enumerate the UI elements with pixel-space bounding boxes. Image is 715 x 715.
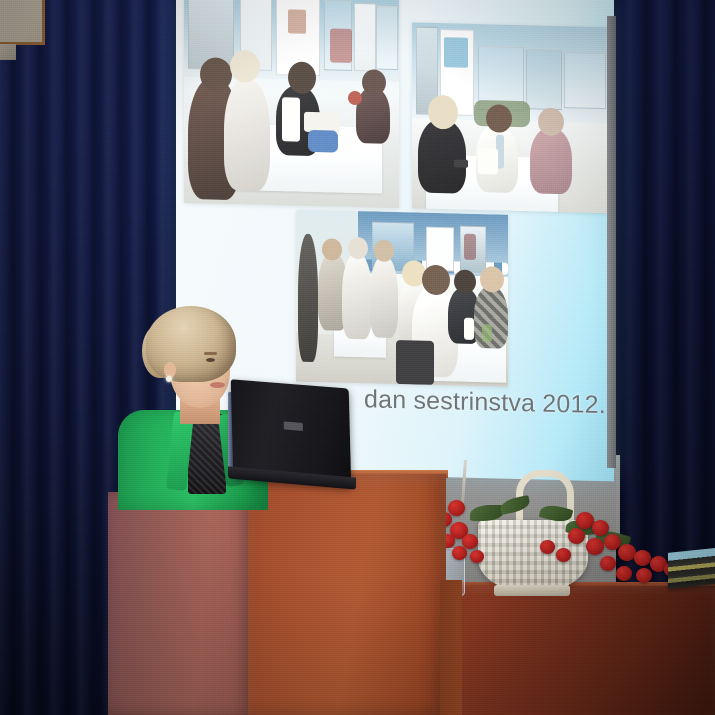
speaker-eye <box>206 358 215 362</box>
rose-icon <box>540 540 555 554</box>
rose-icon <box>568 528 585 544</box>
speaker-eyebrow <box>204 352 217 355</box>
podium-left-panel <box>108 492 250 715</box>
rose-icon <box>592 520 609 536</box>
laptop-logo <box>284 421 303 431</box>
rose-icon <box>470 550 484 563</box>
rose-icon <box>636 568 652 583</box>
conference-photo: dan sestrinstva 2012. <box>0 0 715 715</box>
speaker-earring <box>166 376 172 382</box>
wall-panel-corner <box>0 0 45 45</box>
speaker-lips <box>210 382 225 388</box>
rose-icon <box>556 548 571 562</box>
speaker-hair <box>146 306 236 382</box>
podium: NEUROPSIHIJATRIJSKA BOLNICA "DR. IVAN BA… <box>248 474 446 715</box>
wall-panel-corner-lower <box>0 44 16 60</box>
rose-icon <box>600 556 616 571</box>
rose-icon <box>634 550 651 566</box>
rose-icon <box>448 500 465 516</box>
projection-screen-right-edge <box>607 16 616 468</box>
slide-photo-top-left <box>184 0 399 208</box>
flower-basket-foot <box>494 585 570 596</box>
slide-caption-text: dan sestrinstva 2012. <box>364 385 606 420</box>
rose-icon <box>586 538 604 555</box>
slide-photo-top-right <box>412 22 608 213</box>
slide-photo-bottom-centre <box>296 210 508 387</box>
podium-side-panel <box>440 580 462 715</box>
stacked-books <box>668 547 715 589</box>
rose-icon <box>616 566 632 581</box>
rose-icon <box>452 546 467 560</box>
